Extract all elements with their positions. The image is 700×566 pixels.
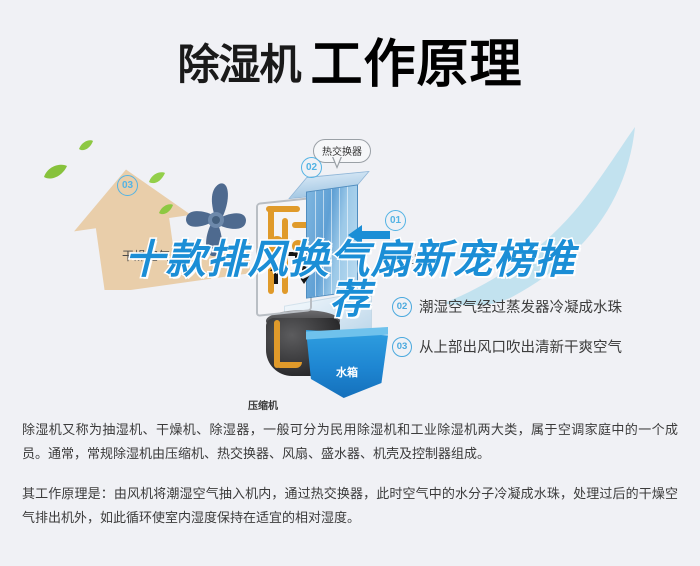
flow-arrow-right-icon [282,248,304,260]
water-tank-label: 水箱 [306,364,388,380]
dry-air-label: 干燥空气 [122,247,170,264]
leaf-icon [42,163,68,181]
coil-segment [274,320,280,368]
legend-label: 从上部出风口吹出清新干爽空气 [419,336,622,357]
step-badge-01: 01 [385,210,406,231]
legend-badge: 03 [392,337,412,357]
dehumidifier-unit: 水箱 [248,170,388,400]
leaf-icon [148,171,166,185]
article-body: 除湿机又称为抽湿机、干燥机、除湿器，一般可分为民用除湿机和工业除湿机两大类，属于… [22,418,678,546]
legend-badge: 02 [392,297,412,317]
leaf-icon [158,203,174,216]
intake-arrow-icon [348,225,390,245]
step-badge-02: 02 [301,157,322,178]
legend-label: 潮湿空气经过蒸发器冷凝成水珠 [419,296,622,317]
page-title-main: 工作原理 [311,39,523,91]
humid-air-label: 潮湿空气 [390,250,438,267]
coil-segment [266,206,300,212]
step-badge-03: 03 [117,175,138,196]
flow-arrow-up-icon [270,262,282,284]
heat-exchanger-callout: 热交换器 [313,139,371,163]
legend-item: 02 潮湿空气经过蒸发器冷凝成水珠 [392,296,682,317]
body-paragraph-1: 除湿机又称为抽湿机、干燥机、除湿器，一般可分为民用除湿机和工业除湿机两大类，属于… [22,418,678,466]
callout-tail-icon [332,157,342,169]
fan-blades-icon [185,180,247,258]
body-paragraph-2: 其工作原理是：由风机将潮湿空气抽入机内，通过热交换器，此时空气中的水分子冷凝成水… [22,482,678,530]
legend-list: 02 潮湿空气经过蒸发器冷凝成水珠 03 从上部出风口吹出清新干爽空气 [392,296,682,376]
compressor-label: 压缩机 [248,397,278,412]
page-title: 除湿机 工作原理 [0,26,700,104]
flow-arrow-down-icon [298,262,310,284]
humid-air-swoosh-icon [400,125,640,305]
coil-segment [274,362,302,368]
page-title-prefix: 除湿机 [177,44,300,86]
legend-item: 03 从上部出风口吹出清新干爽空气 [392,336,682,357]
leaf-icon [78,139,94,152]
water-tank: 水箱 [306,330,388,398]
